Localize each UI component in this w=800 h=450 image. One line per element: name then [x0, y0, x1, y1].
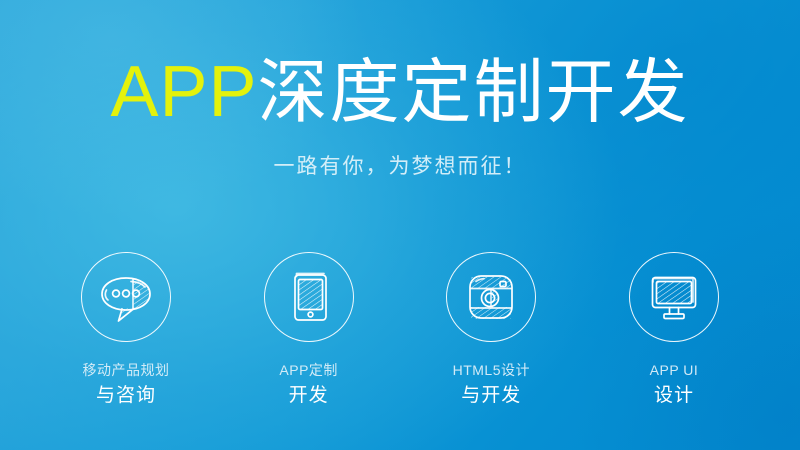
camera-icon — [463, 269, 519, 325]
icon-circle-app-development — [264, 252, 354, 342]
feature-labels-app-development: APP定制 开发 — [279, 362, 338, 407]
page-subtitle: 一路有你，为梦想而征！ — [0, 150, 800, 180]
chat-bubble-icon — [97, 271, 155, 323]
feature-labels-consultation: 移动产品规划 与咨询 — [83, 362, 170, 407]
tablet-device-icon — [286, 268, 332, 326]
feature-label-bottom: 开发 — [279, 384, 338, 408]
title-highlight: APP — [110, 52, 257, 132]
desktop-monitor-icon — [645, 271, 703, 323]
feature-label-bottom: 与开发 — [453, 384, 530, 408]
feature-item-app-ui[interactable]: APP UI 设计 — [594, 252, 754, 407]
feature-item-app-development[interactable]: APP定制 开发 — [229, 252, 389, 407]
feature-item-html5[interactable]: HTML5设计 与开发 — [411, 252, 571, 407]
feature-label-top: APP UI — [650, 362, 699, 380]
title-rest: 深度定制开发 — [258, 53, 690, 131]
page-title: APP深度定制开发 — [0, 56, 800, 128]
promo-banner: APP深度定制开发 一路有你，为梦想而征！ — [0, 0, 800, 450]
feature-label-top: APP定制 — [279, 362, 338, 380]
feature-label-bottom: 设计 — [650, 384, 699, 408]
icon-circle-html5 — [446, 252, 536, 342]
feature-label-bottom: 与咨询 — [83, 384, 170, 408]
feature-item-consultation[interactable]: 移动产品规划 与咨询 — [46, 252, 206, 407]
feature-list: 移动产品规划 与咨询 — [0, 252, 800, 407]
icon-circle-app-ui — [629, 252, 719, 342]
feature-labels-app-ui: APP UI 设计 — [650, 362, 699, 407]
feature-labels-html5: HTML5设计 与开发 — [453, 362, 530, 407]
feature-label-top: 移动产品规划 — [83, 362, 170, 380]
icon-circle-consultation — [81, 252, 171, 342]
feature-label-top: HTML5设计 — [453, 362, 530, 380]
